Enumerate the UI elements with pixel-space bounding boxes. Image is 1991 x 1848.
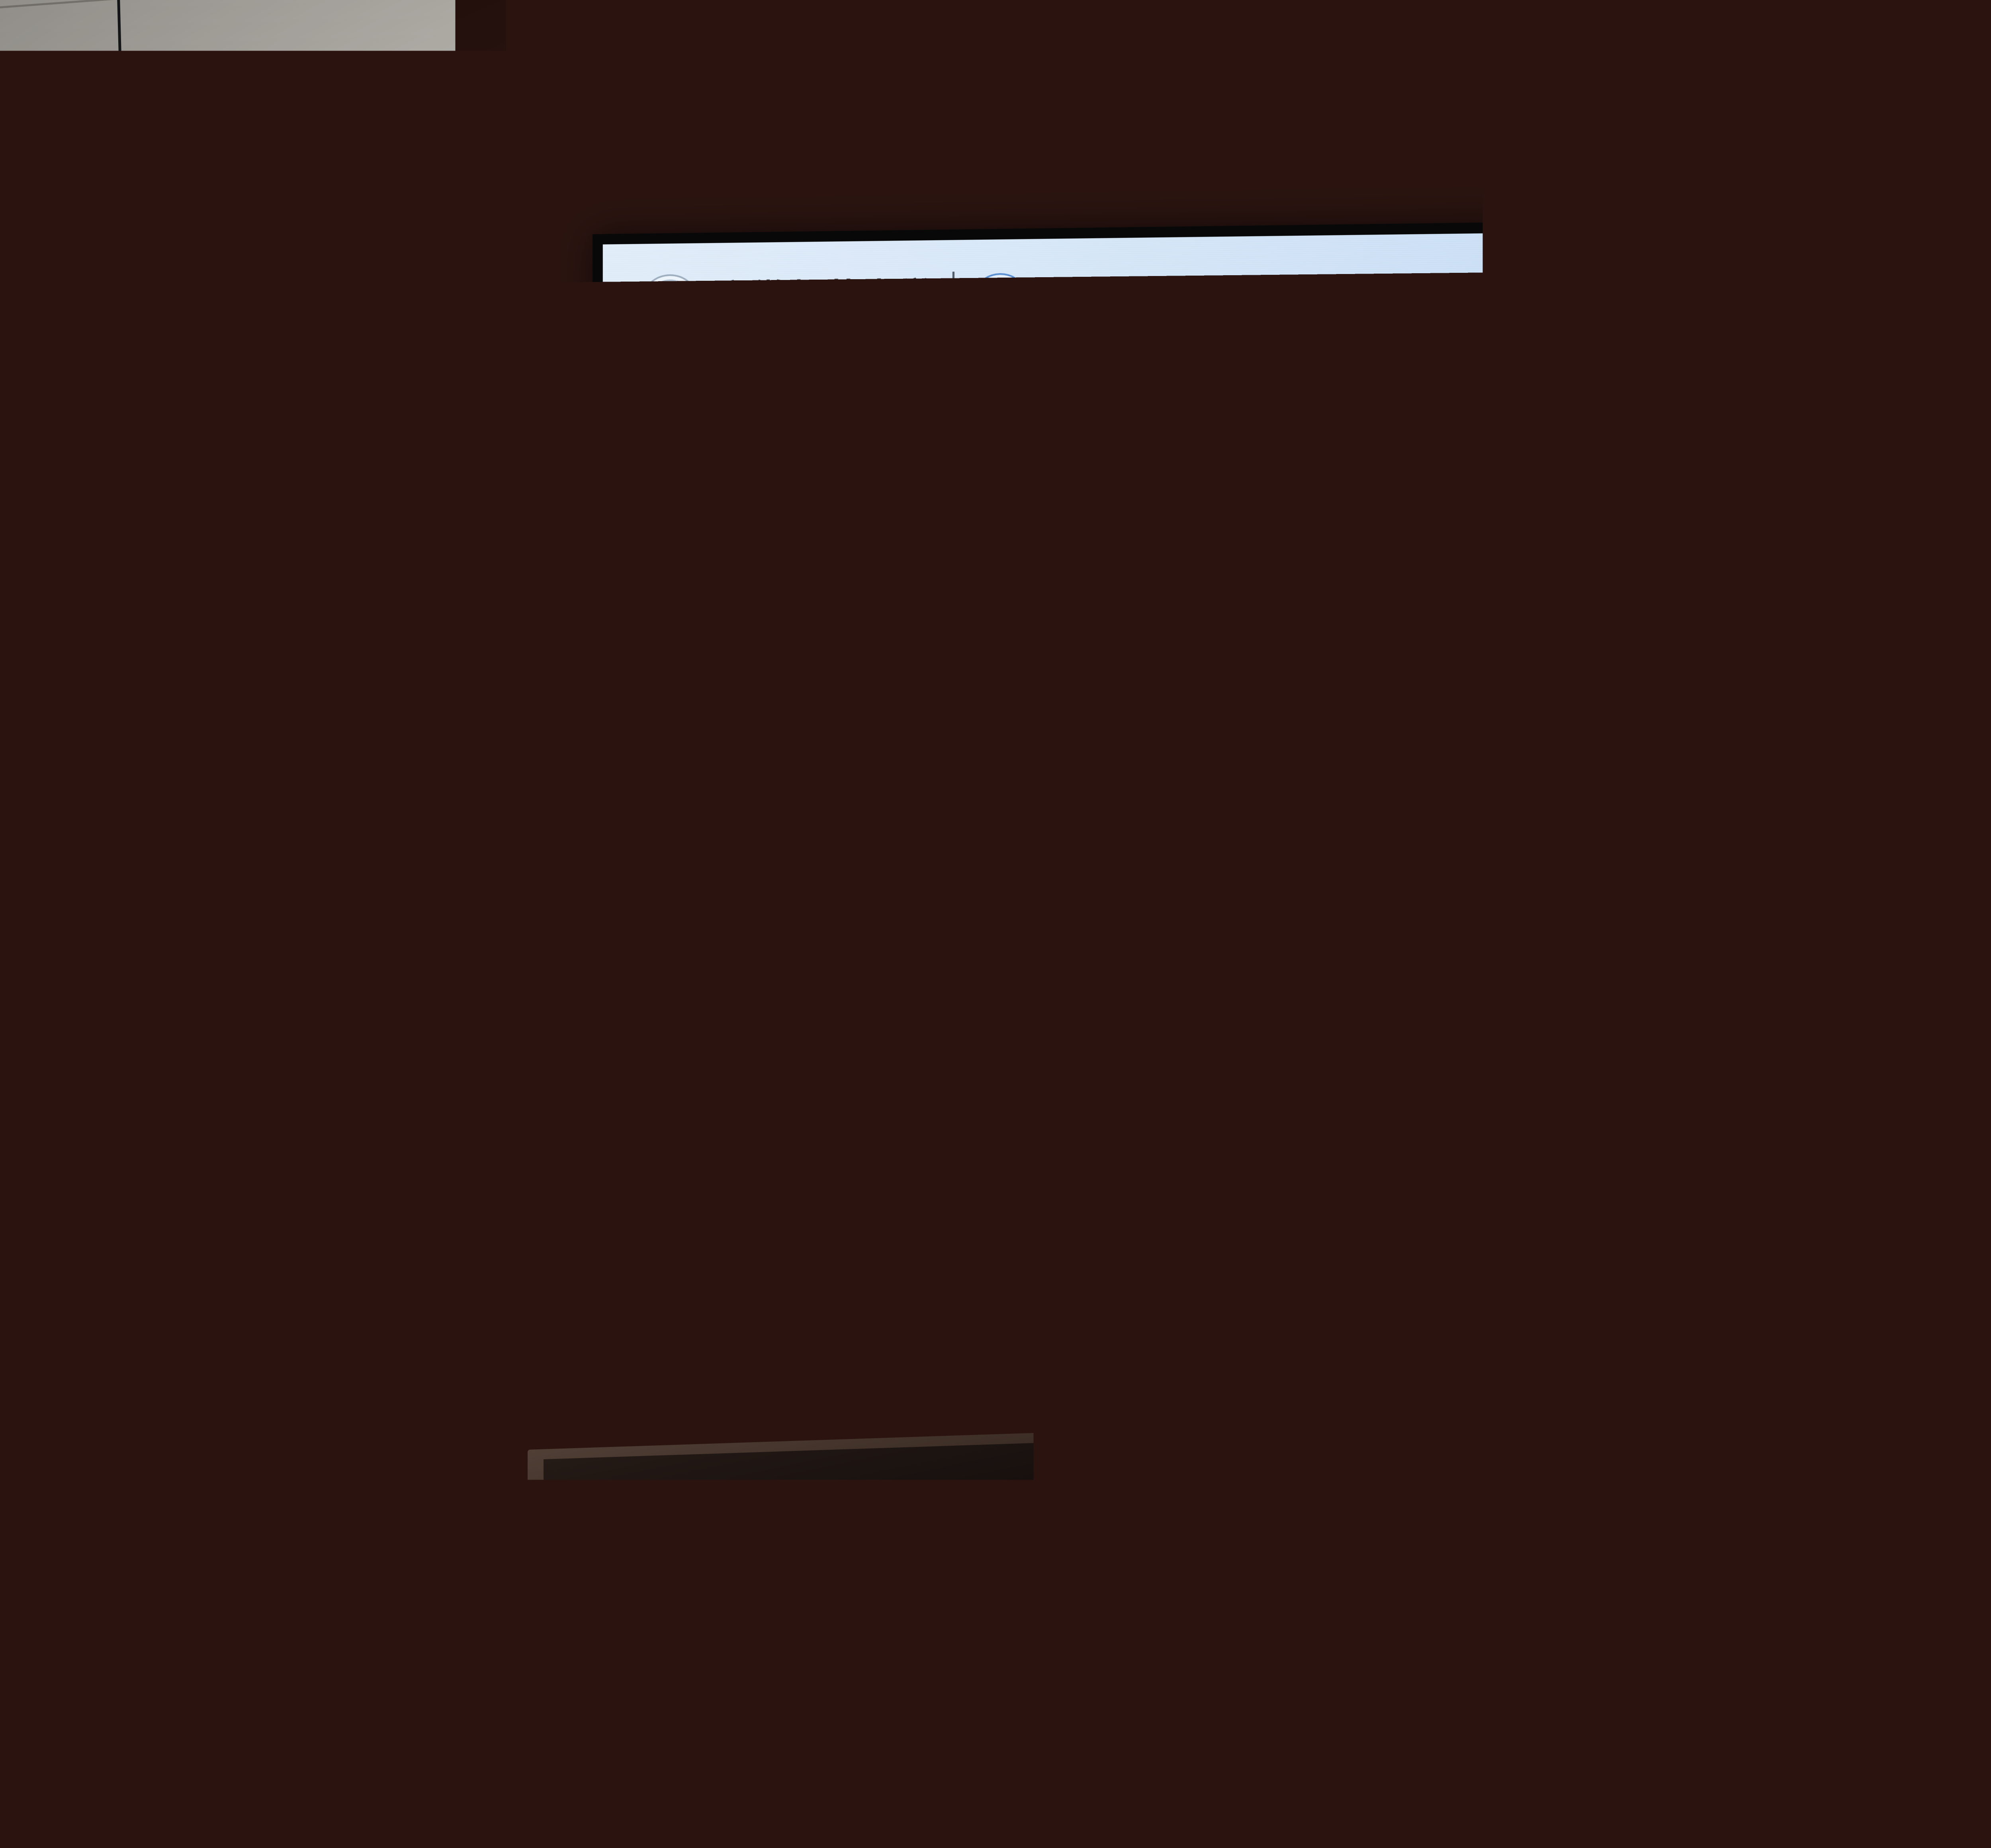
headline-line-1: 杰明助梦 [628,413,1577,572]
ac-lower-vent [0,1505,88,1716]
slide-headline: 杰明助梦 青春奋楫争先 [628,413,1577,736]
ac-panel-seam [0,1481,179,1490]
info-field-date-key: 时间 [1223,1319,1330,1389]
school-name-en: School of Geography and Tourism [1046,310,1269,320]
slide-header-logos: 安徽师范大学 ANHUI NORMAL UNIVERSITY 地理与旅游学院 S… [640,268,1269,335]
cartoon-character-pin-icon [733,1541,767,1576]
ac-brand-label: GREE [0,1020,32,1041]
anhui-normal-university-seal-icon [640,274,700,335]
ac-control-panel[interactable] [0,1055,84,1106]
university-name-block: 安徽师范大学 ANHUI NORMAL UNIVERSITY [717,278,935,327]
school-of-geography-and-tourism-seal-icon [972,273,1029,329]
school-name-block: 地理与旅游学院 School of Geography and Tourism [1046,279,1269,320]
energy-efficiency-label [92,1060,127,1121]
lecture-room-photo: 安徽师范大学 ANHUI NORMAL UNIVERSITY 地理与旅游学院 S… [0,0,1991,1848]
presenter-nose [600,1136,610,1167]
presenter-shirt-button-top [610,1371,624,1384]
ac-power-indicator-icon [72,1065,80,1074]
logo-divider [952,272,954,332]
ac-access-handle[interactable] [92,1525,115,1534]
ac-upper-vent [0,856,139,1012]
presenter-at-podium [382,972,900,1848]
university-name-en: ANHUI NORMAL UNIVERSITY [717,315,935,327]
ac-lcd-display [0,1063,27,1096]
info-field-major-value: 地理科学 [1016,1307,1205,1382]
info-field-major-key: 专业 [917,1301,1021,1370]
floor-standing-air-conditioner: GREE [0,844,195,1791]
headline-line-2: 青春奋楫争先 [623,572,1577,736]
school-name-cn: 地理与旅游学院 [1046,279,1269,309]
ac-button-pad[interactable] [33,1065,71,1098]
university-name-cn: 安徽师范大学 [717,278,935,314]
presenter-shirt-button-lower [604,1444,617,1458]
